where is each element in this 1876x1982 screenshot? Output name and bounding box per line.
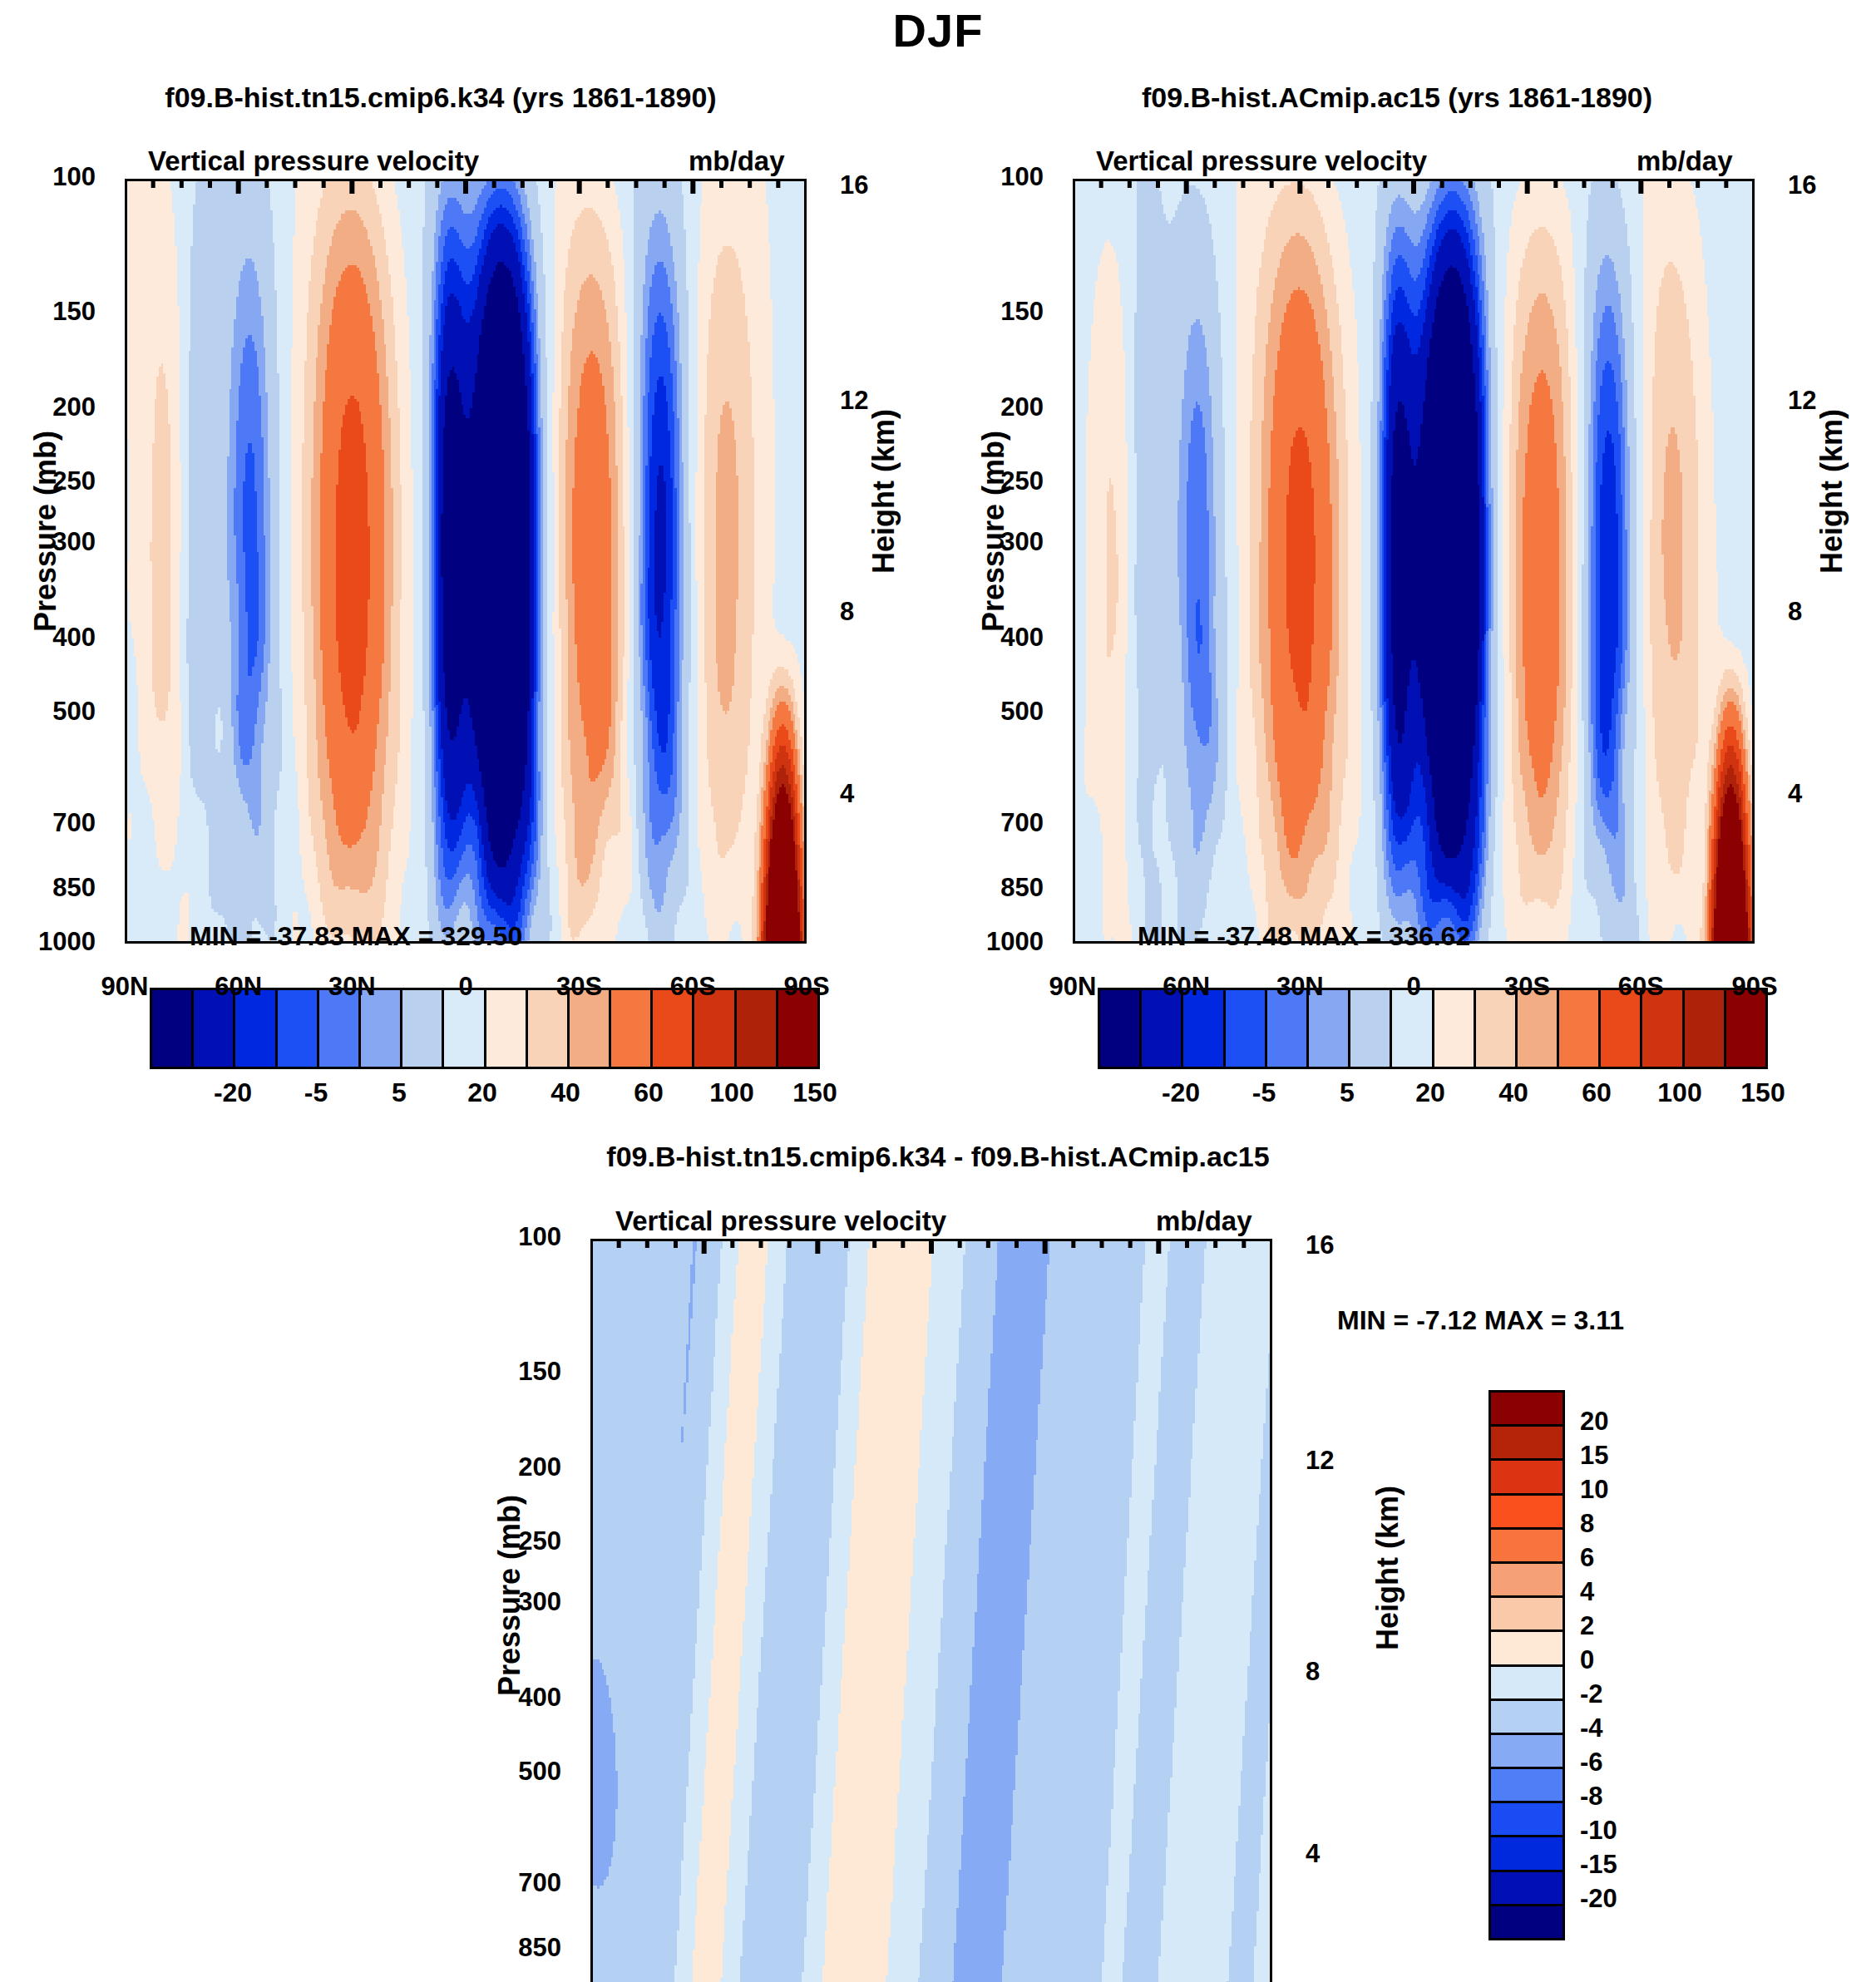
colorbar-swatch[interactable] [1491, 1872, 1563, 1906]
colorbar-swatch[interactable] [1491, 1564, 1563, 1598]
height-axis-tick-label: 4 [840, 779, 854, 809]
panel-bottom-variable-label: Vertical pressure velocity [615, 1205, 946, 1237]
panel-bottom-height-label: Height (km) [1370, 1486, 1405, 1650]
x-axis-tick-label: 90S [757, 972, 857, 1002]
x-axis-tick-label: 0 [1364, 972, 1464, 1002]
colorbar-tick-label: 150 [765, 1077, 865, 1108]
panel-top-left-unit-label: mb/day [689, 145, 785, 177]
y-axis-tick-label: 700 [462, 1868, 561, 1898]
y-axis-tick-label: 250 [462, 1526, 561, 1556]
colorbar-tick-label: 8 [1580, 1509, 1594, 1539]
height-axis-tick-label: 8 [1306, 1657, 1320, 1687]
x-axis-tick-label: 90S [1705, 972, 1804, 1002]
colorbar-tick-label: 6 [1580, 1543, 1594, 1573]
y-axis-tick-label: 500 [0, 697, 96, 727]
x-axis-tick-label: 30N [302, 972, 402, 1002]
panel-bottom-title: f09.B-hist.tn15.cmip6.k34 - f09.B-hist.A… [439, 1141, 1437, 1173]
panel-top-right-minmax: MIN = -37.48 MAX = 336.62 [1138, 921, 1470, 952]
x-axis-tick-label: 60S [1591, 972, 1691, 1002]
colorbar-tick-label: 4 [1580, 1577, 1594, 1607]
y-axis-tick-label: 300 [944, 527, 1044, 557]
colorbar-swatch[interactable] [1491, 1769, 1563, 1803]
contour-fill [125, 179, 807, 944]
colorbar-swatch[interactable] [1491, 1735, 1563, 1769]
colorbar-tick-label: -4 [1580, 1713, 1603, 1743]
y-axis-tick-label: 850 [462, 1933, 561, 1963]
x-axis-tick-label: 60N [1137, 972, 1237, 1002]
y-axis-tick-label: 150 [944, 297, 1044, 327]
height-axis-tick-label: 12 [1788, 386, 1816, 416]
panel-bottom-plot [590, 1239, 1272, 1982]
contour-fill [1073, 179, 1755, 944]
panel-bottom-colorbar[interactable] [1488, 1390, 1565, 1940]
y-axis-tick-label: 100 [0, 162, 96, 192]
y-axis-tick-label: 200 [944, 392, 1044, 422]
colorbar-tick-label: 0 [1580, 1645, 1594, 1675]
y-axis-tick-label: 700 [944, 808, 1044, 838]
x-axis-tick-label: 30N [1250, 972, 1350, 1002]
x-axis-tick-label: 60S [643, 972, 743, 1002]
y-axis-tick-label: 100 [944, 162, 1044, 192]
colorbar-tick-label: 150 [1713, 1077, 1813, 1108]
panel-top-right-unit-label: mb/day [1637, 145, 1733, 177]
x-axis-tick-label: 30S [530, 972, 629, 1002]
colorbar-swatch[interactable] [1491, 1496, 1563, 1530]
height-axis-tick-label: 4 [1306, 1839, 1320, 1869]
y-axis-tick-label: 250 [944, 466, 1044, 496]
x-axis-tick-label: 90N [75, 972, 175, 1002]
colorbar-tick-label: -8 [1580, 1782, 1603, 1812]
panel-top-left-height-label: Height (km) [866, 409, 901, 574]
height-axis-tick-label: 8 [1788, 597, 1802, 627]
y-axis-tick-label: 850 [944, 873, 1044, 903]
height-axis-tick-label: 16 [1788, 170, 1816, 200]
y-axis-tick-label: 1000 [0, 927, 96, 957]
y-axis-tick-label: 850 [0, 873, 96, 903]
colorbar-tick-label: 20 [1580, 1407, 1608, 1437]
colorbar-swatch[interactable] [1491, 1427, 1563, 1461]
height-axis-tick-label: 12 [840, 386, 868, 416]
y-axis-tick-label: 1000 [944, 927, 1044, 957]
x-axis-tick-label: 30S [1478, 972, 1577, 1002]
height-axis-tick-label: 12 [1306, 1446, 1334, 1476]
height-axis-tick-label: 16 [1306, 1230, 1334, 1260]
colorbar-tick-label: -2 [1580, 1679, 1603, 1709]
height-axis-tick-label: 8 [840, 597, 854, 627]
figure-root: DJF f09.B-hist.tn15.cmip6.k34 (yrs 1861-… [0, 0, 1876, 1982]
panel-bottom-minmax: MIN = -7.12 MAX = 3.11 [1337, 1305, 1624, 1336]
panel-top-left-variable-label: Vertical pressure velocity [148, 145, 479, 177]
colorbar-tick-label: 10 [1580, 1475, 1608, 1505]
panel-top-right-plot [1073, 179, 1755, 944]
contour-fill [590, 1239, 1272, 1982]
panel-top-left-minmax: MIN = -37.83 MAX = 329.50 [190, 921, 522, 952]
x-axis-tick-label: 60N [189, 972, 289, 1002]
x-axis-tick-label: 90N [1023, 972, 1123, 1002]
colorbar-tick-label: -10 [1580, 1816, 1617, 1846]
panel-top-left-title: f09.B-hist.tn15.cmip6.k34 (yrs 1861-1890… [25, 81, 857, 114]
colorbar-swatch[interactable] [1491, 1906, 1563, 1938]
y-axis-tick-label: 150 [462, 1357, 561, 1387]
colorbar-tick-label: 15 [1580, 1441, 1608, 1471]
panel-bottom-unit-label: mb/day [1156, 1205, 1252, 1237]
y-axis-tick-label: 300 [462, 1587, 561, 1617]
season-title: DJF [0, 3, 1876, 57]
panel-top-left-plot [125, 179, 807, 944]
colorbar-swatch[interactable] [1491, 1803, 1563, 1837]
y-axis-tick-label: 400 [944, 623, 1044, 653]
y-axis-tick-label: 500 [944, 697, 1044, 727]
colorbar-swatch[interactable] [1491, 1461, 1563, 1495]
colorbar-swatch[interactable] [1491, 1393, 1563, 1427]
colorbar-tick-label: -6 [1580, 1748, 1603, 1777]
y-axis-tick-label: 100 [462, 1222, 561, 1252]
y-axis-tick-label: 400 [0, 623, 96, 653]
colorbar-tick-label: 2 [1580, 1611, 1594, 1641]
y-axis-tick-label: 200 [462, 1452, 561, 1482]
colorbar-swatch[interactable] [1491, 1530, 1563, 1564]
colorbar-swatch[interactable] [1491, 1701, 1563, 1735]
colorbar-tick-label: -15 [1580, 1850, 1617, 1880]
panel-top-right-height-label: Height (km) [1814, 409, 1849, 574]
height-axis-tick-label: 16 [840, 170, 868, 200]
x-axis-tick-label: 0 [416, 972, 516, 1002]
colorbar-swatch[interactable] [1491, 1837, 1563, 1871]
panel-top-right-variable-label: Vertical pressure velocity [1096, 145, 1427, 177]
y-axis-tick-label: 300 [0, 527, 96, 557]
height-axis-tick-label: 4 [1788, 779, 1802, 809]
colorbar-swatch[interactable] [1491, 1632, 1563, 1666]
panel-top-right-title: f09.B-hist.ACmip.ac15 (yrs 1861-1890) [981, 81, 1813, 114]
y-axis-tick-label: 400 [462, 1683, 561, 1713]
colorbar-swatch[interactable] [1491, 1667, 1563, 1701]
colorbar-swatch[interactable] [1491, 1598, 1563, 1632]
y-axis-tick-label: 700 [0, 808, 96, 838]
y-axis-tick-label: 200 [0, 392, 96, 422]
y-axis-tick-label: 150 [0, 297, 96, 327]
y-axis-tick-label: 250 [0, 466, 96, 496]
colorbar-tick-label: -20 [1580, 1884, 1617, 1914]
y-axis-tick-label: 500 [462, 1757, 561, 1787]
